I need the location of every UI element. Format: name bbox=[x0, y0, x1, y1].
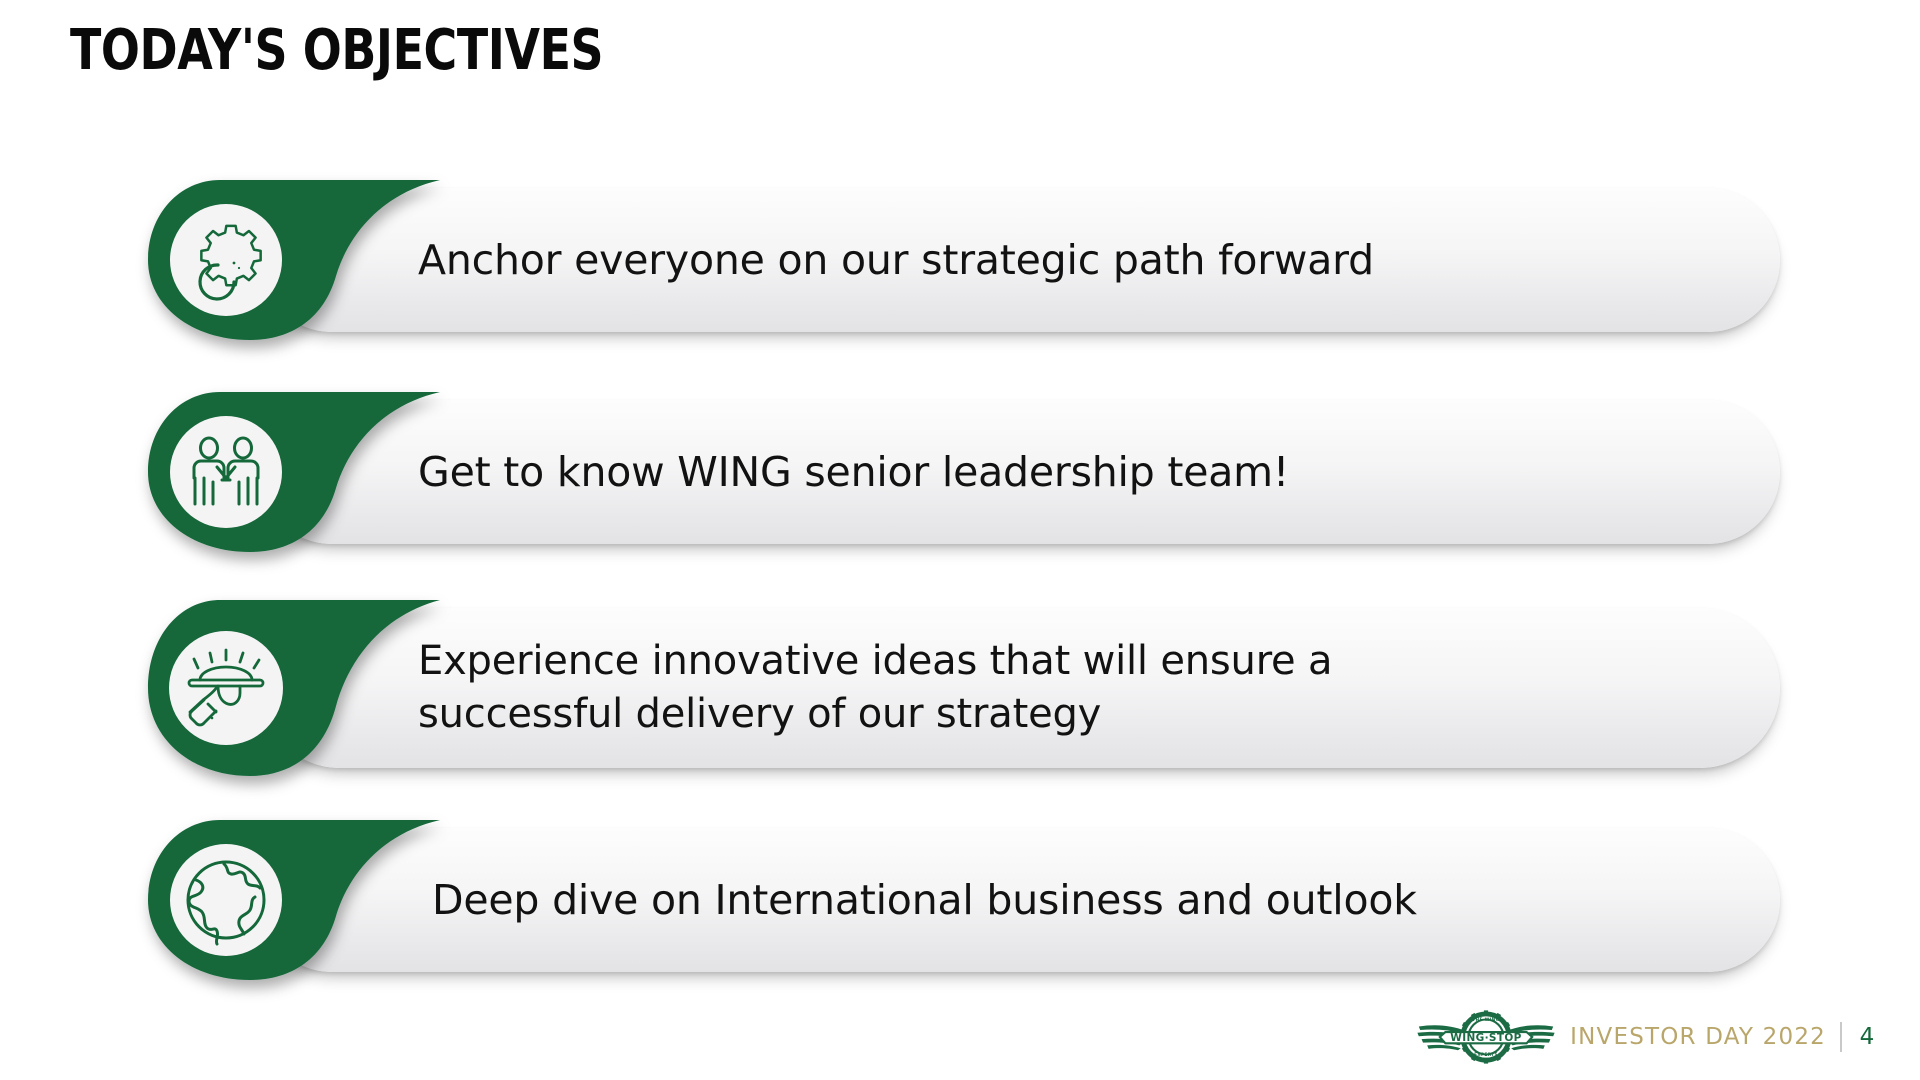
svg-text:THE WING: THE WING bbox=[1473, 1017, 1500, 1022]
objective-text-4: Deep dive on International business and … bbox=[432, 820, 1690, 980]
footer-event-label: INVESTOR DAY 2022 bbox=[1570, 1024, 1826, 1050]
objective-text-2: Get to know WING senior leadership team! bbox=[418, 392, 1690, 552]
slide-footer: WING·STOP THE WING EXPERTS INVESTOR DAY … bbox=[1416, 1008, 1878, 1066]
objective-row-3[interactable]: Experience innovative ideas that will en… bbox=[140, 600, 1780, 776]
wingstop-logo: WING·STOP THE WING EXPERTS bbox=[1416, 1008, 1556, 1066]
page-number: 4 bbox=[1856, 1024, 1878, 1050]
svg-text:EXPERTS: EXPERTS bbox=[1474, 1052, 1498, 1057]
objective-row-4[interactable]: Deep dive on International business and … bbox=[140, 820, 1780, 980]
svg-text:WING·STOP: WING·STOP bbox=[1450, 1032, 1521, 1044]
slide-canvas: TODAY'S OBJECTIVES bbox=[0, 0, 1920, 1080]
footer-divider bbox=[1840, 1022, 1842, 1052]
objective-row-1[interactable]: Anchor everyone on our strategic path fo… bbox=[140, 180, 1780, 340]
objective-row-2[interactable]: Get to know WING senior leadership team! bbox=[140, 392, 1780, 552]
objectives-list: Anchor everyone on our strategic path fo… bbox=[0, 0, 1920, 1000]
objective-text-3: Experience innovative ideas that will en… bbox=[418, 600, 1530, 776]
objective-text-1: Anchor everyone on our strategic path fo… bbox=[418, 180, 1690, 340]
